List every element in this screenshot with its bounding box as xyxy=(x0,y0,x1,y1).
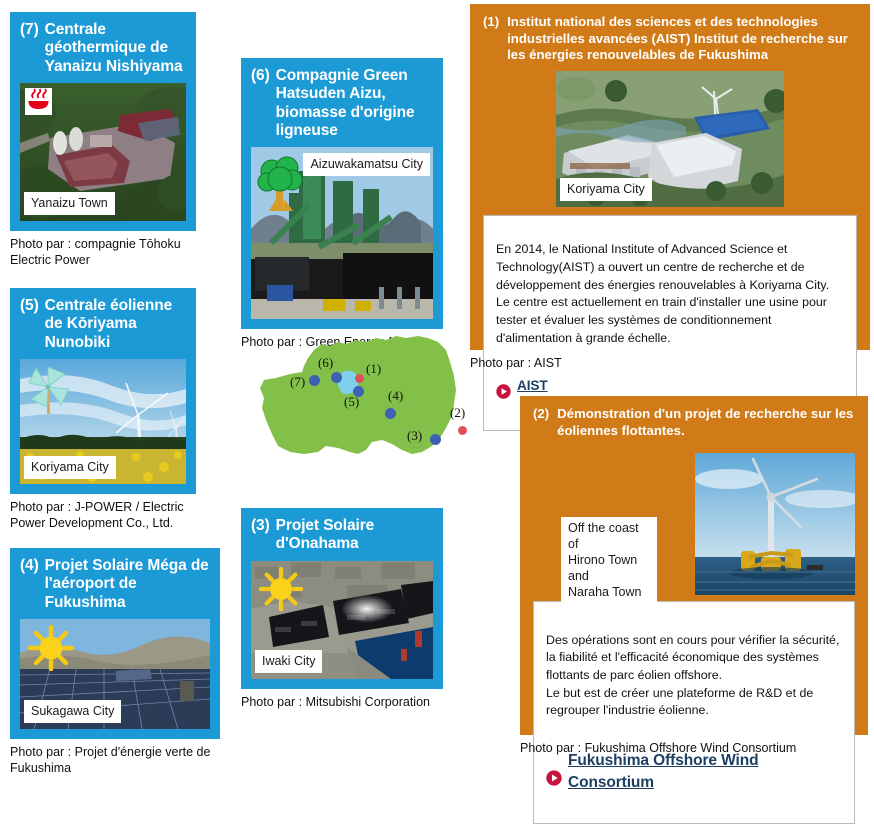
card-4-number: (4) xyxy=(20,557,39,612)
panel-2-photo-area: Off the coast of Hirono Town and Naraha … xyxy=(533,443,855,595)
sun-icon xyxy=(259,567,303,616)
map-label-3: (3) xyxy=(407,428,422,444)
panel-2-body: (2) Démonstration d'un projet de recherc… xyxy=(520,396,868,735)
panel-1-title-row: (1) Institut national des sciences et de… xyxy=(483,14,857,64)
card-6-title: Compagnie Green Hatsuden Aizu, biomasse … xyxy=(276,67,433,140)
map-label-6: (6) xyxy=(318,355,333,371)
card-4-city-tag: Sukagawa City xyxy=(24,700,121,723)
card-5-title-row: (5) Centrale éolienne de Kōriyama Nunobi… xyxy=(20,297,186,352)
card-3-solar-onahama[interactable]: (3) Projet Solaire d'Onahama xyxy=(241,508,443,710)
card-5-body: (5) Centrale éolienne de Kōriyama Nunobi… xyxy=(10,288,196,494)
map-dot-6[interactable] xyxy=(331,372,342,383)
card-7-geothermal[interactable]: (7) Centrale géothermique de Yanaizu Nis… xyxy=(10,12,196,269)
panel-2-title-row: (2) Démonstration d'un projet de recherc… xyxy=(533,406,855,439)
card-7-body: (7) Centrale géothermique de Yanaizu Nis… xyxy=(10,12,196,231)
panel-1-credit: Photo par : AIST xyxy=(470,355,870,372)
hot-spring-icon xyxy=(25,88,52,120)
panel-1-title: Institut national des sciences et des te… xyxy=(507,14,857,64)
map-dot-4[interactable] xyxy=(385,408,396,419)
card-3-city-tag: Iwaki City xyxy=(255,650,322,673)
floating-wind-turbine-photo xyxy=(695,453,855,595)
panel-1-number: (1) xyxy=(483,14,499,64)
map-label-7: (7) xyxy=(290,374,305,390)
panel-2-offshore-wind[interactable]: (2) Démonstration d'un projet de recherc… xyxy=(520,396,868,757)
card-5-number: (5) xyxy=(20,297,39,352)
map-label-5: (5) xyxy=(344,394,359,410)
card-6-photo: Aizuwakamatsu City xyxy=(251,147,433,319)
card-6-city-tag: Aizuwakamatsu City xyxy=(303,153,430,176)
card-5-photo: Koriyama City xyxy=(20,359,186,484)
card-5-wind[interactable]: (5) Centrale éolienne de Kōriyama Nunobi… xyxy=(10,288,196,532)
map-dot-3[interactable] xyxy=(430,434,441,445)
card-3-title: Projet Solaire d'Onahama xyxy=(276,517,433,554)
card-6-title-row: (6) Compagnie Green Hatsuden Aizu, bioma… xyxy=(251,67,433,140)
panel-1-aist[interactable]: (1) Institut national des sciences et de… xyxy=(470,4,870,372)
card-3-number: (3) xyxy=(251,517,270,554)
play-icon xyxy=(496,367,511,405)
card-7-city-tag: Yanaizu Town xyxy=(24,192,115,215)
sun-icon xyxy=(28,625,74,676)
map-label-4: (4) xyxy=(388,388,403,404)
card-6-body: (6) Compagnie Green Hatsuden Aizu, bioma… xyxy=(241,58,443,329)
card-4-title: Projet Solaire Méga de l'aéroport de Fuk… xyxy=(45,557,210,612)
panel-1-city-tag: Koriyama City xyxy=(560,178,652,201)
map-label-2: (2) xyxy=(450,405,465,421)
card-5-credit: Photo par : J-POWER / Electric Power Dev… xyxy=(10,499,196,532)
card-6-number: (6) xyxy=(251,67,270,140)
card-7-credit: Photo par : compagnie Tōhoku Electric Po… xyxy=(10,236,196,269)
aist-link[interactable]: AIST xyxy=(517,376,548,395)
map-dot-1[interactable] xyxy=(355,374,364,383)
map-dot-2[interactable] xyxy=(458,426,467,435)
card-6-biomass[interactable]: (6) Compagnie Green Hatsuden Aizu, bioma… xyxy=(241,58,443,351)
panel-2-photo xyxy=(695,453,855,595)
pinwheel-icon xyxy=(27,365,71,420)
card-3-photo: Iwaki City xyxy=(251,561,433,679)
card-4-credit: Photo par : Projet d'énergie verte de Fu… xyxy=(10,744,220,777)
fukushima-map[interactable]: (1) (2) (3) (4) (5) (6) (7) xyxy=(246,328,478,463)
panel-1-photo: Koriyama City xyxy=(556,71,784,207)
card-7-number: (7) xyxy=(20,21,39,76)
card-3-body: (3) Projet Solaire d'Onahama xyxy=(241,508,443,689)
play-icon xyxy=(546,752,562,791)
card-4-solar-airport[interactable]: (4) Projet Solaire Méga de l'aéroport de… xyxy=(10,548,220,777)
card-7-title-row: (7) Centrale géothermique de Yanaizu Nis… xyxy=(20,21,186,76)
card-5-title: Centrale éolienne de Kōriyama Nunobiki xyxy=(45,297,186,352)
card-4-title-row: (4) Projet Solaire Méga de l'aéroport de… xyxy=(20,557,210,612)
card-4-body: (4) Projet Solaire Méga de l'aéroport de… xyxy=(10,548,220,739)
map-dot-7[interactable] xyxy=(309,375,320,386)
map-label-1: (1) xyxy=(366,361,381,377)
panel-1-body-text: En 2014, le National Institute of Advanc… xyxy=(496,241,846,347)
panel-2-city-tag: Off the coast of Hirono Town and Naraha … xyxy=(561,517,657,604)
panel-2-body-text: Des opérations sont en cours pour vérifi… xyxy=(546,632,844,720)
panel-2-title: Démonstration d'un projet de recherche s… xyxy=(557,406,855,439)
card-3-title-row: (3) Projet Solaire d'Onahama xyxy=(251,517,433,554)
card-7-title: Centrale géothermique de Yanaizu Nishiya… xyxy=(45,21,186,76)
card-4-photo: Sukagawa City xyxy=(20,619,210,729)
panel-2-number: (2) xyxy=(533,406,549,439)
card-3-credit: Photo par : Mitsubishi Corporation xyxy=(241,694,443,711)
tree-icon xyxy=(257,155,303,218)
card-5-city-tag: Koriyama City xyxy=(24,456,116,479)
panel-2-textbox: Des opérations sont en cours pour vérifi… xyxy=(533,601,855,824)
card-7-photo: Yanaizu Town xyxy=(20,83,186,221)
panel-1-body: (1) Institut national des sciences et de… xyxy=(470,4,870,350)
